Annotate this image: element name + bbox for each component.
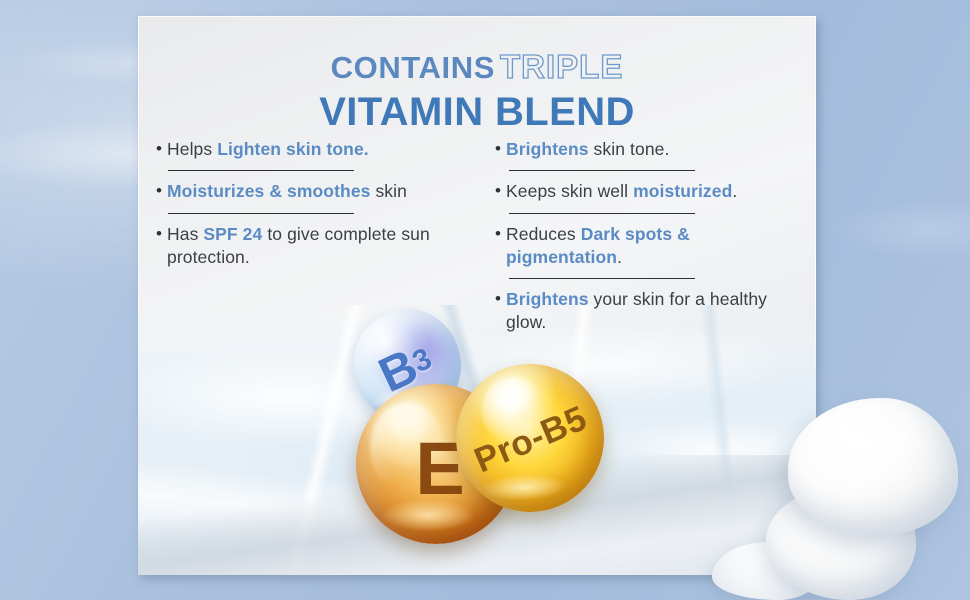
benefit-text: Brightens your skin for a healthy glow. <box>506 288 798 335</box>
benefit-text: Helps Lighten skin tone. <box>167 138 463 161</box>
bullet-dot-icon: • <box>495 138 506 161</box>
benefit-text: Moisturizes & smoothes skin <box>167 180 463 203</box>
benefit-bullet: •Keeps skin well moisturized. <box>495 180 798 203</box>
benefit-highlight: Brightens <box>506 289 589 309</box>
headline-block: CONTAINSTRIPLE VITAMIN BLEND <box>138 50 816 132</box>
benefit-text: Keeps skin well moisturized. <box>506 180 798 203</box>
water-texture-background <box>138 305 816 575</box>
headline-line-1: CONTAINSTRIPLE <box>138 50 816 83</box>
headline-contains: CONTAINS <box>331 50 495 85</box>
benefit-bullet: •Brightens skin tone. <box>495 138 798 161</box>
headline-line-2: VITAMIN BLEND <box>138 92 816 132</box>
benefit-plain: . <box>732 181 737 201</box>
benefit-divider <box>509 213 695 214</box>
headline-triple: TRIPLE <box>500 48 623 85</box>
benefit-bullet: •Moisturizes & smoothes skin <box>156 180 463 203</box>
benefits-column-right: •Brightens skin tone.•Keeps skin well mo… <box>477 138 798 335</box>
cream-swirl-highlight <box>814 418 906 468</box>
backdrop-wisp <box>830 200 970 260</box>
benefit-bullet: •Brightens your skin for a healthy glow. <box>495 288 798 335</box>
bullet-dot-icon: • <box>156 223 167 246</box>
benefit-highlight: Moisturizes & smoothes <box>167 181 370 201</box>
benefit-plain: skin tone. <box>589 139 670 159</box>
benefit-divider <box>168 170 354 171</box>
benefit-plain: Helps <box>167 139 217 159</box>
benefit-text: Reduces Dark spots & pigmentation. <box>506 223 798 270</box>
benefit-bullet: •Has SPF 24 to give complete sun protect… <box>156 223 463 270</box>
bullet-dot-icon: • <box>495 288 506 311</box>
benefit-plain: Has <box>167 224 203 244</box>
bullet-dot-icon: • <box>495 180 506 203</box>
benefits-columns: •Helps Lighten skin tone.•Moisturizes & … <box>156 138 798 335</box>
benefit-divider <box>509 278 695 279</box>
benefit-text: Brightens skin tone. <box>506 138 798 161</box>
benefit-highlight: Lighten skin tone. <box>217 139 369 159</box>
benefit-text: Has SPF 24 to give complete sun protecti… <box>167 223 463 270</box>
bullet-dot-icon: • <box>156 138 167 161</box>
bullet-dot-icon: • <box>495 223 506 246</box>
benefit-highlight: moisturized <box>633 181 732 201</box>
benefits-column-left: •Helps Lighten skin tone.•Moisturizes & … <box>156 138 477 335</box>
infographic-card: CONTAINSTRIPLE VITAMIN BLEND •Helps Ligh… <box>138 16 816 575</box>
benefit-bullet: •Helps Lighten skin tone. <box>156 138 463 161</box>
benefit-plain: Reduces <box>506 224 581 244</box>
bullet-dot-icon: • <box>156 180 167 203</box>
benefit-plain: Keeps skin well <box>506 181 633 201</box>
benefit-highlight: SPF 24 <box>203 224 262 244</box>
benefit-divider <box>168 213 354 214</box>
benefit-divider <box>509 170 695 171</box>
benefit-plain: . <box>617 247 622 267</box>
infographic-canvas: CONTAINSTRIPLE VITAMIN BLEND •Helps Ligh… <box>0 0 970 600</box>
benefit-bullet: •Reduces Dark spots & pigmentation. <box>495 223 798 270</box>
benefit-highlight: Brightens <box>506 139 589 159</box>
benefit-plain: skin <box>370 181 406 201</box>
